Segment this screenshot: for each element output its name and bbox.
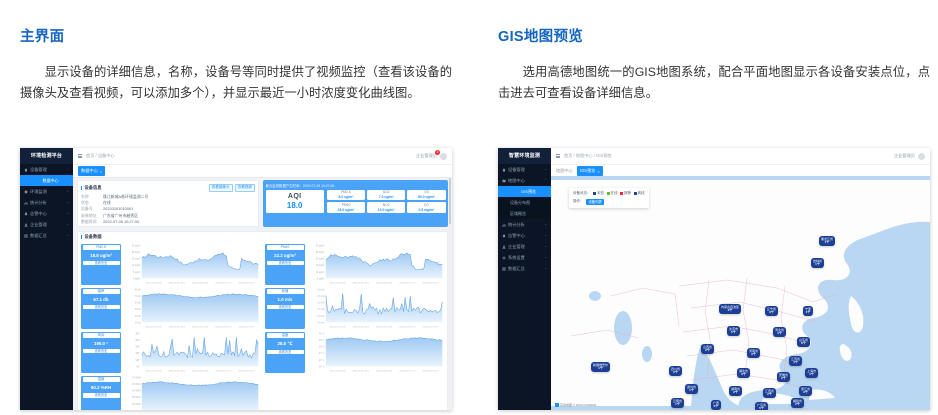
svg-text:2022-07-05 09:30: 2022-07-05 09:30 <box>329 282 346 284</box>
svg-text:70 %RH: 70 %RH <box>132 378 141 380</box>
sidebar-item-1[interactable]: 地图中心⌃ <box>498 175 551 186</box>
pollutant-value: 80.0 ug/m³ <box>418 195 435 199</box>
tab-group-label: 地图中心 <box>556 168 573 174</box>
svg-text:2.0 m/s: 2.0 m/s <box>317 302 325 304</box>
aqi-cell: SO27.0 ug/m³ <box>367 190 405 201</box>
map-cluster-marker[interactable]: 宁夏1个 <box>803 306 813 316</box>
legend-item[interactable]: 离线 <box>634 191 645 196</box>
menu-collapse-icon[interactable] <box>78 154 82 158</box>
tab-label: 数据中心 <box>81 168 98 174</box>
metric-chart: 80 db70 db60 db50 db40 db30 db2022-07-05… <box>123 288 260 329</box>
pollutant-value: 7.0 ug/m³ <box>379 195 394 199</box>
metric-tile: 湿度60.2 %RH查看历史 <box>81 376 121 410</box>
sidebar-item-2[interactable]: 环境监测⌄ <box>20 186 73 197</box>
svg-text:65 %RH: 65 %RH <box>132 384 141 386</box>
cluster-count: 2个 <box>713 405 719 409</box>
metric-value: 67.1 db <box>83 296 120 304</box>
device-info-actions: 查看摄像头 查看视频 <box>209 184 255 193</box>
sidebar-item-3[interactable]: 设备分布图 <box>498 197 551 208</box>
svg-text:29 ℃: 29 ℃ <box>319 339 325 342</box>
cluster-count: 1个 <box>593 367 608 371</box>
metric-chart: 30 ug/m³25 ug/m³20 ug/m³15 ug/m³10 ug/m³… <box>307 244 444 285</box>
metric-name: PM10 <box>267 245 304 250</box>
section-heading-gis: GIS地图预览 <box>498 29 583 45</box>
device-info-rows: 名称珠江新城A栋环境监测二号状态在线设备号20220101010001安装地址广… <box>78 194 258 226</box>
sidebar-item-label: 设备管理 <box>30 164 47 175</box>
sidebar-item-label: 统计分析 <box>508 219 525 230</box>
sidebar-item-5[interactable]: 统计分析⌄ <box>498 219 551 230</box>
legend-swatch-icon <box>607 192 610 195</box>
aqi-cell: PM2.58.0 ug/m³ <box>327 190 365 201</box>
metric-row: 风速1.0 m/s查看历史3.0 m/s2.5 m/s2.0 m/s1.5 m/… <box>265 288 444 329</box>
svg-text:180 °: 180 ° <box>135 353 140 355</box>
aqi-primary: AQI 18.0 <box>266 190 324 213</box>
sidebar-item-label: 企业管理 <box>30 219 47 230</box>
map-cluster-marker[interactable]: 湖北省3个 <box>737 368 750 378</box>
top-row: 设备信息 查看摄像头 查看视频 名称珠江新城A栋环境监测二号状态在线设备号202… <box>77 180 448 227</box>
sidebar-item-8[interactable]: 系统设置⌄ <box>498 252 551 263</box>
chart-icon <box>24 201 28 205</box>
topbar-right: 企业管理员 8 <box>416 153 447 160</box>
metric-tile: PM2.518.8 ug/m³查看历史 <box>81 244 121 285</box>
topbar-right: 企业管理员 <box>894 153 925 160</box>
sidebar-item-0[interactable]: 设备管理⌄ <box>498 164 551 175</box>
tab-gis-preview[interactable]: GIS预览 × <box>577 166 603 175</box>
svg-text:60 %RH: 60 %RH <box>132 391 141 393</box>
user-label[interactable]: 企业管理员 8 <box>416 153 437 159</box>
metrics-grid: PM2.518.8 ug/m³查看历史25 ug/m³20 ug/m³15 ug… <box>78 242 447 410</box>
cluster-count: 2个 <box>765 393 774 397</box>
svg-text:2022-07-05 10:00: 2022-07-05 10:00 <box>192 326 209 328</box>
map-cluster-marker[interactable]: 浙江省3个 <box>799 386 812 396</box>
svg-text:2022-07-05 10:27: 2022-07-05 10:27 <box>239 282 256 284</box>
cluster-count: 1个 <box>813 263 822 267</box>
svg-text:2022-07-05 10:27: 2022-07-05 10:27 <box>239 370 256 372</box>
svg-text:25 ug/m³: 25 ug/m³ <box>316 251 325 254</box>
svg-text:2022-07-05 10:00: 2022-07-05 10:00 <box>376 370 393 372</box>
sidebar-item-label: 设备管理 <box>508 164 525 175</box>
svg-text:2022-07-05 10:00: 2022-07-05 10:00 <box>192 370 209 372</box>
chevron-down-icon[interactable]: ⌄ <box>66 219 69 230</box>
sidebar-item-1[interactable]: 数据中心 <box>20 175 73 186</box>
cluster-count: 1个 <box>673 403 682 407</box>
metric-tile: 风向195.0 °查看历史 <box>81 332 121 373</box>
view-history-button[interactable]: 查看历史 <box>83 349 120 354</box>
legend-label: 在线 <box>611 191 618 196</box>
svg-text:2.5 m/s: 2.5 m/s <box>317 296 325 298</box>
dashboard-body: 首页 / 设备中心 企业管理员 8 数据中心 × <box>73 148 452 410</box>
bell-icon <box>24 212 28 216</box>
svg-text:240 °: 240 ° <box>135 347 140 349</box>
view-history-button[interactable]: 查看历史 <box>267 350 304 355</box>
scrollbar-thumb[interactable] <box>449 178 451 224</box>
cluster-count: 5个 <box>729 331 738 335</box>
metric-value: 60.2 %RH <box>83 384 120 392</box>
svg-text:25 ℃: 25 ℃ <box>319 365 325 368</box>
amap-canvas[interactable]: 设备状态： 未知在线报警离线 操作： 设备列表 黑龙江省1个吉林省1个内蒙古自治… <box>551 176 930 410</box>
sidebar-item-4[interactable]: 告警中心⌄ <box>20 208 73 219</box>
legend-item[interactable]: 未知 <box>593 191 604 196</box>
legend-swatch-icon <box>620 192 623 195</box>
legend-swatch-icon <box>593 192 596 195</box>
cluster-count: 4个 <box>807 373 816 377</box>
pollutant-name: NO2 <box>383 203 390 207</box>
aqi-cell: PM1018.0 ug/m³ <box>327 202 365 213</box>
gis-logo: 智慧环境监测 <box>498 148 551 164</box>
sidebar-item-3[interactable]: 统计分析⌄ <box>20 197 73 208</box>
cluster-count: 3个 <box>739 373 748 377</box>
info-value: 2022-07-05 10:27:00 <box>103 219 139 225</box>
legend-action-line: 操作： 设备列表 <box>573 199 645 206</box>
attribution-text: 高德地图 © 2022 GS(2022) <box>560 403 596 407</box>
aqi-panel: 最近监测数据产生时间：2022-07-05 10:27:00 AQI 18.0 … <box>263 180 448 227</box>
metric-name: PM2.5 <box>83 245 120 250</box>
svg-text:2022-07-05 09:30: 2022-07-05 09:30 <box>145 370 162 372</box>
svg-text:30 ug/m³: 30 ug/m³ <box>316 244 325 247</box>
map-cluster-marker[interactable]: 广西2个 <box>711 400 721 410</box>
sidebar-item-9[interactable]: 数据汇总⌄ <box>498 263 551 274</box>
svg-text:30 db: 30 db <box>135 322 141 324</box>
metric-name: 风速 <box>267 289 304 294</box>
chevron-down-icon[interactable]: ⌄ <box>66 186 69 197</box>
map-viewport[interactable]: 设备状态： 未知在线报警离线 操作： 设备列表 黑龙江省1个吉林省1个内蒙古自治… <box>551 176 930 410</box>
pollutant-name: PM2.5 <box>341 190 351 194</box>
cluster-count: 3个 <box>801 391 810 395</box>
dashboard-screenshot: 环境检测平台 设备管理⌄数据中心环境监测⌄统计分析⌄告警中心⌄企业管理⌄数据汇总… <box>20 148 452 410</box>
metric-chart: 360 °300 °240 °180 °120 °60 °2022-07-05 … <box>123 332 260 373</box>
close-icon[interactable]: × <box>597 169 599 174</box>
sidebar-item-label: 告警中心 <box>30 208 47 219</box>
dashboard-logo: 环境检测平台 <box>20 148 73 164</box>
svg-text:2022-07-05 09:45: 2022-07-05 09:45 <box>169 326 186 328</box>
sidebar-item-7[interactable]: 企业管理⌄ <box>498 241 551 252</box>
svg-text:30 ℃: 30 ℃ <box>319 333 325 336</box>
pollutant-name: SO2 <box>383 190 390 194</box>
chevron-down-icon[interactable]: ⌄ <box>544 230 547 241</box>
metric-name: 湿度 <box>83 377 120 382</box>
bell-icon <box>502 234 506 238</box>
amap-logo-icon <box>555 403 559 407</box>
map-cluster-marker[interactable]: 江苏省4个 <box>789 356 802 366</box>
tab-data-center[interactable]: 数据中心 × <box>78 166 105 175</box>
svg-text:70 db: 70 db <box>135 296 141 298</box>
home-icon <box>502 168 506 172</box>
svg-text:2022-07-05 09:30: 2022-07-05 09:30 <box>145 326 162 328</box>
grid-icon <box>24 234 28 238</box>
avatar[interactable] <box>918 153 925 160</box>
chevron-down-icon[interactable]: ⌄ <box>544 219 547 230</box>
svg-text:2022-07-05 09:45: 2022-07-05 09:45 <box>169 370 186 372</box>
aqi-header: 最近监测数据产生时间：2022-07-05 10:27:00 <box>266 183 446 188</box>
svg-text:0.5 m/s: 0.5 m/s <box>317 322 325 324</box>
view-history-button[interactable]: 查看历史 <box>83 261 120 266</box>
cluster-count: 1个 <box>805 311 811 315</box>
shield-icon <box>24 190 28 194</box>
legend-label: 报警 <box>624 191 631 196</box>
cluster-count: 2个 <box>793 403 802 407</box>
section-paragraph-main-ui: 显示设备的详细信息，名称，设备号等同时提供了视频监控（查看该设备的摄像头及查看视… <box>20 62 452 104</box>
device-info-header: 设备信息 查看摄像头 查看视频 <box>78 181 258 194</box>
map-cluster-marker[interactable]: 山东省6个 <box>797 337 810 347</box>
sidebar-item-label: 设备分布图 <box>510 197 530 208</box>
sidebar-item-label: GIS预览 <box>521 186 536 197</box>
dashboard-nav: 设备管理⌄数据中心环境监测⌄统计分析⌄告警中心⌄企业管理⌄数据汇总⌄ <box>20 164 73 241</box>
map-cluster-marker[interactable]: 上海市4个 <box>805 368 818 378</box>
map-legend-panel: 设备状态： 未知在线报警离线 操作： 设备列表 <box>569 188 649 208</box>
chevron-down-icon[interactable]: ⌄ <box>66 230 69 241</box>
svg-text:360 °: 360 ° <box>135 334 140 336</box>
legend-item[interactable]: 在线 <box>607 191 618 196</box>
metric-value: 18.8 ug/m³ <box>83 252 120 260</box>
map-cluster-marker[interactable]: 江西省2个 <box>763 388 776 398</box>
map-cluster-marker[interactable]: 辽宁省3个 <box>765 306 778 316</box>
metric-chart: 30 ℃29 ℃28 ℃27 ℃26 ℃25 ℃2022-07-05 09:30… <box>307 332 444 373</box>
svg-text:2022-07-05 10:15: 2022-07-05 10:15 <box>399 326 416 328</box>
cluster-count: 3个 <box>749 353 758 357</box>
metric-row: 湿度60.2 %RH查看历史70 %RH65 %RH60 %RH55 %RH50… <box>81 376 260 410</box>
dashboard-sidebar: 环境检测平台 设备管理⌄数据中心环境监测⌄统计分析⌄告警中心⌄企业管理⌄数据汇总… <box>20 148 73 410</box>
grid-icon <box>502 267 506 271</box>
metric-value: 22.2 ug/m³ <box>267 252 304 260</box>
pollutant-value: 8.0 ug/m³ <box>339 195 354 199</box>
view-history-button[interactable]: 查看历史 <box>83 305 120 310</box>
pollutant-name: O3 <box>424 190 428 194</box>
metric-value: 195.0 ° <box>83 340 120 348</box>
view-history-button[interactable]: 查看历史 <box>83 393 120 398</box>
gear-icon <box>502 256 506 260</box>
cluster-count: 4个 <box>775 332 784 336</box>
metric-tile: 温度28.8 ℃查看历史 <box>265 332 305 373</box>
user-label[interactable]: 企业管理员 <box>894 153 915 159</box>
map-attribution: 高德地图 © 2022 GS(2022) <box>555 403 596 407</box>
svg-text:26 ℃: 26 ℃ <box>319 359 325 362</box>
tab-label: GIS预览 <box>580 168 596 174</box>
svg-text:2022-07-05 10:15: 2022-07-05 10:15 <box>399 370 416 372</box>
document-page: 主界面 显示设备的详细信息，名称，设备号等同时提供了视频监控（查看该设备的摄像头… <box>0 0 938 415</box>
device-list-button[interactable]: 设备列表 <box>586 199 604 206</box>
cluster-count: 2个 <box>671 371 680 375</box>
svg-text:2022-07-05 09:30: 2022-07-05 09:30 <box>329 326 346 328</box>
svg-text:50 db: 50 db <box>135 309 141 311</box>
chevron-down-icon[interactable]: ⌃ <box>544 175 547 186</box>
cluster-count: 1个 <box>687 389 696 393</box>
device-info-card: 设备信息 查看摄像头 查看视频 名称珠江新城A栋环境监测二号状态在线设备号202… <box>77 180 259 227</box>
sidebar-item-6[interactable]: 数据汇总⌄ <box>20 230 73 241</box>
svg-text:2022-07-05 10:15: 2022-07-05 10:15 <box>399 282 416 284</box>
gis-screenshot: 智慧环境监测 设备管理⌄地图中心⌃GIS预览设备分布图区域概览统计分析⌄告警中心… <box>498 148 930 410</box>
legend-swatch-icon <box>634 192 637 195</box>
aqi-cell: CO0.5 mg/m³ <box>407 202 445 213</box>
legend-title: 设备状态： <box>573 191 591 196</box>
pollutant-value: 0.5 mg/m³ <box>418 208 434 212</box>
sidebar-item-label: 企业管理 <box>508 241 525 252</box>
svg-text:2022-07-05 10:15: 2022-07-05 10:15 <box>215 282 232 284</box>
sidebar-item-4[interactable]: 区域概览 <box>498 208 551 219</box>
metric-value: 1.0 m/s <box>267 296 304 304</box>
svg-text:2022-07-05 09:45: 2022-07-05 09:45 <box>353 282 370 284</box>
cluster-count: 5个 <box>757 407 766 410</box>
dashboard-content: 设备信息 查看摄像头 查看视频 名称珠江新城A栋环境监测二号状态在线设备号202… <box>73 176 452 410</box>
view-camera-button[interactable]: 查看摄像头 <box>209 184 233 193</box>
sidebar-item-label: 数据中心 <box>43 175 59 186</box>
svg-text:2022-07-05 10:00: 2022-07-05 10:00 <box>192 282 209 284</box>
svg-text:2022-07-05 10:27: 2022-07-05 10:27 <box>423 326 440 328</box>
device-data-title: 设备数据 <box>84 234 101 240</box>
chevron-down-icon[interactable]: ⌄ <box>544 263 547 274</box>
device-info-row: 数据时间2022-07-05 10:27:00 <box>78 219 258 225</box>
svg-text:60 °: 60 ° <box>137 366 141 368</box>
sidebar-item-label: 区域概览 <box>510 208 526 219</box>
pollutant-name: PM10 <box>342 203 351 207</box>
gis-body: 首页 / 地图中心 / GIS预览 企业管理员 地图中心 GIS预览 × <box>551 148 930 410</box>
sidebar-item-5[interactable]: 企业管理⌄ <box>20 219 73 230</box>
svg-text:60 db: 60 db <box>135 302 141 304</box>
chevron-down-icon[interactable]: ⌄ <box>544 164 547 175</box>
sidebar-item-label: 数据汇总 <box>508 263 525 274</box>
aqi-cell: O380.0 ug/m³ <box>407 190 445 201</box>
pollutant-value: 19.0 ug/m³ <box>378 208 395 212</box>
svg-text:10 ug/m³: 10 ug/m³ <box>132 264 141 267</box>
map-cluster-marker[interactable]: 安徽省2个 <box>777 372 790 382</box>
info-key: 数据时间 <box>81 219 103 225</box>
metric-name: 温度 <box>267 333 304 338</box>
svg-text:28 ℃: 28 ℃ <box>319 346 325 349</box>
sidebar-item-label: 告警中心 <box>508 230 525 241</box>
aqi-main: AQI 18.0 PM2.58.0 ug/m³SO27.0 ug/m³O380.… <box>266 190 446 213</box>
menu-collapse-icon[interactable] <box>556 154 560 158</box>
aqi-pollutant-grid: PM2.58.0 ug/m³SO27.0 ug/m³O380.0 ug/m³PM… <box>327 190 446 213</box>
notification-badge[interactable]: 8 <box>435 150 440 155</box>
chevron-down-icon[interactable]: ⌄ <box>544 241 547 252</box>
svg-text:0 ug/m³: 0 ug/m³ <box>133 277 141 280</box>
svg-text:2022-07-05 10:15: 2022-07-05 10:15 <box>215 326 232 328</box>
svg-text:27 ℃: 27 ℃ <box>319 352 325 355</box>
cluster-count: 4个 <box>791 361 800 365</box>
metric-tile: PM1022.2 ug/m³查看历史 <box>265 244 305 285</box>
user-name: 企业管理员 <box>416 153 437 158</box>
view-history-button[interactable]: 查看历史 <box>267 261 304 266</box>
dashboard-topbar: 首页 / 设备中心 企业管理员 8 <box>73 148 452 165</box>
map-cluster-marker[interactable]: 河南省3个 <box>747 348 760 358</box>
chevron-down-icon[interactable]: ⌄ <box>66 208 69 219</box>
legend-items: 未知在线报警离线 <box>593 191 645 196</box>
svg-text:15 ug/m³: 15 ug/m³ <box>316 264 325 267</box>
metric-row: 风向195.0 °查看历史360 °300 °240 °180 °120 °60… <box>81 332 260 373</box>
svg-text:80 db: 80 db <box>135 289 141 291</box>
map-cluster-marker[interactable]: 山西省2个 <box>701 344 714 354</box>
sidebar-item-label: 地图中心 <box>508 175 525 186</box>
svg-text:20 ug/m³: 20 ug/m³ <box>132 251 141 254</box>
map-cluster-marker[interactable]: 河北省4个 <box>773 327 786 337</box>
scrollbar-track[interactable] <box>449 178 451 406</box>
svg-text:2022-07-05 09:30: 2022-07-05 09:30 <box>329 370 346 372</box>
sidebar-item-label: 环境监测 <box>30 186 47 197</box>
map-cluster-marker[interactable]: 福建省2个 <box>791 398 804 408</box>
sidebar-item-2[interactable]: GIS预览 <box>498 186 551 197</box>
metric-tile: 风速1.0 m/s查看历史 <box>265 288 305 329</box>
chevron-down-icon[interactable]: ⌄ <box>544 252 547 263</box>
gis-sidebar: 智慧环境监测 设备管理⌄地图中心⌃GIS预览设备分布图区域概览统计分析⌄告警中心… <box>498 148 551 410</box>
metric-chart: 25 ug/m³20 ug/m³15 ug/m³10 ug/m³5 ug/m³0… <box>123 244 260 285</box>
device-data-card: 设备数据 PM2.518.8 ug/m³查看历史25 ug/m³20 ug/m³… <box>77 231 448 410</box>
svg-text:1.0 m/s: 1.0 m/s <box>317 315 325 317</box>
metric-chart: 70 %RH65 %RH60 %RH55 %RH50 %RH45 %RH2022… <box>123 376 260 410</box>
svg-text:2022-07-05 09:45: 2022-07-05 09:45 <box>353 326 370 328</box>
metric-name: 风向 <box>83 333 120 338</box>
map-cluster-marker[interactable]: 广东省5个 <box>755 402 768 410</box>
cluster-count: 2个 <box>731 391 740 395</box>
svg-text:2022-07-05 10:15: 2022-07-05 10:15 <box>215 370 232 372</box>
aqi-cell: NO219.0 ug/m³ <box>367 202 405 213</box>
map-cluster-marker[interactable]: 吉林省1个 <box>811 258 824 268</box>
cluster-count: 1个 <box>821 241 833 245</box>
sidebar-item-6[interactable]: 告警中心⌄ <box>498 230 551 241</box>
sidebar-item-label: 统计分析 <box>30 197 47 208</box>
svg-text:2022-07-05 10:27: 2022-07-05 10:27 <box>423 370 440 372</box>
sidebar-item-label: 数据汇总 <box>30 230 47 241</box>
svg-text:2022-07-05 10:00: 2022-07-05 10:00 <box>376 326 393 328</box>
map-cluster-marker[interactable]: 内蒙古自治区2个 <box>719 304 741 314</box>
metric-row: 噪声67.1 db查看历史80 db70 db60 db50 db40 db30… <box>81 288 260 329</box>
legend-label: 离线 <box>638 191 645 196</box>
svg-text:40 db: 40 db <box>135 315 141 317</box>
home-icon <box>24 168 28 172</box>
avatar[interactable] <box>440 153 447 160</box>
metric-row: 温度28.8 ℃查看历史30 ℃29 ℃28 ℃27 ℃26 ℃25 ℃2022… <box>265 332 444 373</box>
sidebar-item-0[interactable]: 设备管理⌄ <box>20 164 73 175</box>
map-cluster-marker[interactable]: 北京市5个 <box>727 326 740 336</box>
chevron-down-icon[interactable]: ⌄ <box>66 164 69 175</box>
map-cluster-marker[interactable]: 湖南省2个 <box>729 386 742 396</box>
svg-text:300 °: 300 ° <box>135 340 140 342</box>
svg-text:120 °: 120 ° <box>135 360 140 362</box>
legend-label: 未知 <box>597 191 604 196</box>
svg-text:3.0 m/s: 3.0 m/s <box>317 289 325 291</box>
section-heading-main-ui: 主界面 <box>20 29 64 45</box>
close-icon[interactable]: × <box>100 169 102 174</box>
svg-text:15 ug/m³: 15 ug/m³ <box>132 257 141 260</box>
user-icon <box>502 245 506 249</box>
section-paragraph-gis: 选用高德地图统一的GIS地图系统，配合平面地图显示各设备安装点位，点击进去可查看… <box>498 62 930 104</box>
map-cluster-marker[interactable]: 贵州省1个 <box>685 384 698 394</box>
metric-chart: 3.0 m/s2.5 m/s2.0 m/s1.5 m/s1.0 m/s0.5 m… <box>307 288 444 329</box>
cluster-count: 3个 <box>767 311 776 315</box>
view-history-button[interactable]: 查看历史 <box>267 305 304 310</box>
map-cluster-marker[interactable]: 四川省2个 <box>669 366 682 376</box>
map-cluster-marker[interactable]: 黑龙江省1个 <box>819 236 835 246</box>
aqi-value: 18.0 <box>287 201 303 210</box>
svg-text:2022-07-05 09:45: 2022-07-05 09:45 <box>353 370 370 372</box>
svg-text:2022-07-05 09:30: 2022-07-05 09:30 <box>145 282 162 284</box>
legend-item[interactable]: 报警 <box>620 191 631 196</box>
view-video-button[interactable]: 查看视频 <box>235 184 255 193</box>
legend-action-label: 操作： <box>573 199 584 204</box>
map-icon <box>502 179 506 183</box>
map-cluster-marker[interactable]: 新疆维吾尔1个 <box>591 362 610 372</box>
device-info-title: 设备信息 <box>84 185 101 191</box>
metric-row: PM1022.2 ug/m³查看历史30 ug/m³25 ug/m³20 ug/… <box>265 244 444 285</box>
chevron-down-icon[interactable]: ⌄ <box>66 197 69 208</box>
device-data-header: 设备数据 <box>78 232 447 242</box>
pollutant-value: 18.0 ug/m³ <box>338 208 355 212</box>
chart-icon <box>502 223 506 227</box>
breadcrumb: 首页 / 地图中心 / GIS预览 <box>564 153 612 159</box>
accent-bar-icon <box>81 235 82 239</box>
gis-nav: 设备管理⌄地图中心⌃GIS预览设备分布图区域概览统计分析⌄告警中心⌄企业管理⌄系… <box>498 164 551 274</box>
svg-text:5 ug/m³: 5 ug/m³ <box>317 277 325 280</box>
breadcrumb: 首页 / 设备中心 <box>86 153 115 159</box>
map-cluster-marker[interactable]: 云南省1个 <box>671 398 684 408</box>
